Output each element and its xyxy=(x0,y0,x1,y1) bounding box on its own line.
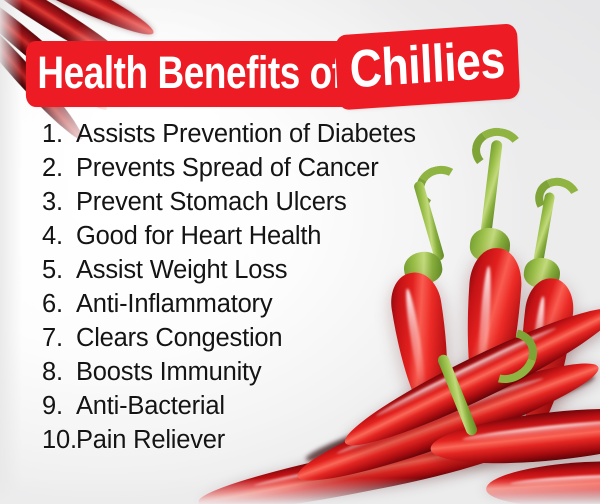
list-item: 1. Assists Prevention of Diabetes xyxy=(42,120,416,154)
list-item-number: 1. xyxy=(42,120,76,149)
list-item-label: Clears Congestion xyxy=(76,324,282,353)
list-item: 7. Clears Congestion xyxy=(42,324,416,358)
list-item-number: 8. xyxy=(42,358,76,387)
list-item: 2. Prevents Spread of Cancer xyxy=(42,154,416,188)
list-item-number: 5. xyxy=(42,256,76,285)
list-item: 4. Good for Heart Health xyxy=(42,222,416,256)
list-item-label: Anti-Inflammatory xyxy=(76,290,272,319)
chilli-stem-curl-c xyxy=(530,172,587,226)
list-item-label: Anti-Bacterial xyxy=(76,392,225,421)
list-item: 8. Boosts Immunity xyxy=(42,358,416,392)
list-item-label: Assist Weight Loss xyxy=(76,256,287,285)
list-item: 3. Prevent Stomach Ulcers xyxy=(42,188,416,222)
title-banner: Health Benefits of Chillies xyxy=(30,41,547,104)
list-item-number: 4. xyxy=(42,222,76,251)
poster-canvas: Health Benefits of Chillies 1. Assists P… xyxy=(0,0,600,504)
list-item-label: Boosts Immunity xyxy=(76,358,261,387)
title-main-text: Health Benefits of xyxy=(30,46,350,102)
list-item: 5. Assist Weight Loss xyxy=(42,256,416,290)
list-item-label: Assists Prevention of Diabetes xyxy=(76,120,416,149)
list-item-number: 3. xyxy=(42,188,76,217)
list-item-label: Prevent Stomach Ulcers xyxy=(76,188,347,217)
benefits-list: 1. Assists Prevention of Diabetes 2. Pre… xyxy=(42,120,416,460)
list-item: 10. Pain Reliever xyxy=(42,426,416,460)
list-item-number: 2. xyxy=(42,154,76,183)
list-item-number: 10. xyxy=(42,426,76,455)
list-item: 6. Anti-Inflammatory xyxy=(42,290,416,324)
title-accent-text: Chillies xyxy=(340,30,514,104)
list-item: 9. Anti-Bacterial xyxy=(42,392,416,426)
list-item-number: 9. xyxy=(42,392,76,421)
list-item-number: 7. xyxy=(42,324,76,353)
list-item-label: Pain Reliever xyxy=(76,426,225,455)
list-item-label: Prevents Spread of Cancer xyxy=(76,154,379,183)
list-item-number: 6. xyxy=(42,290,76,319)
list-item-label: Good for Heart Health xyxy=(76,222,321,251)
